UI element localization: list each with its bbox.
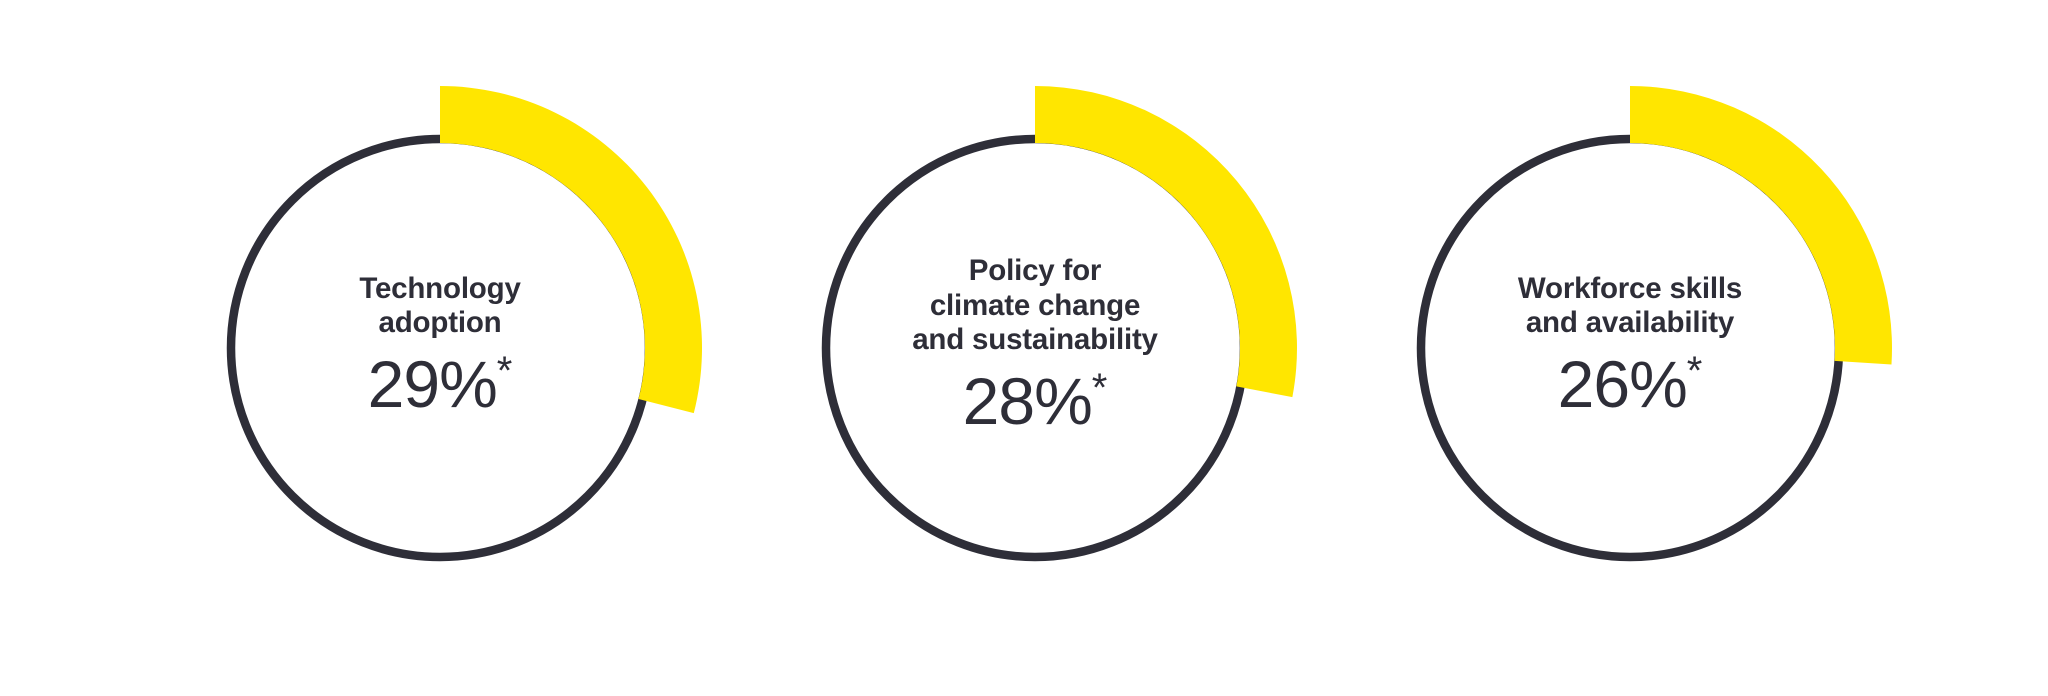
donut-gauge-group: Technology adoption 29%* Policy for clim… (0, 0, 2048, 696)
donut-gauge-svg-2 (735, 0, 1335, 696)
donut-gauge-workforce-skills-and-availability: Workforce skills and availability 26%* (1330, 0, 1930, 696)
gauge-value-arc-2 (1035, 86, 1297, 397)
donut-gauge-policy-for-climate-change-and-sustainability: Policy for climate change and sustainabi… (735, 0, 1335, 696)
gauge-value-arc-3 (1630, 86, 1892, 364)
donut-gauge-svg-3 (1330, 0, 1930, 696)
gauge-value-arc-1 (440, 86, 702, 413)
donut-gauge-svg-1 (140, 0, 740, 696)
donut-gauge-technology-adoption: Technology adoption 29%* (140, 0, 740, 696)
